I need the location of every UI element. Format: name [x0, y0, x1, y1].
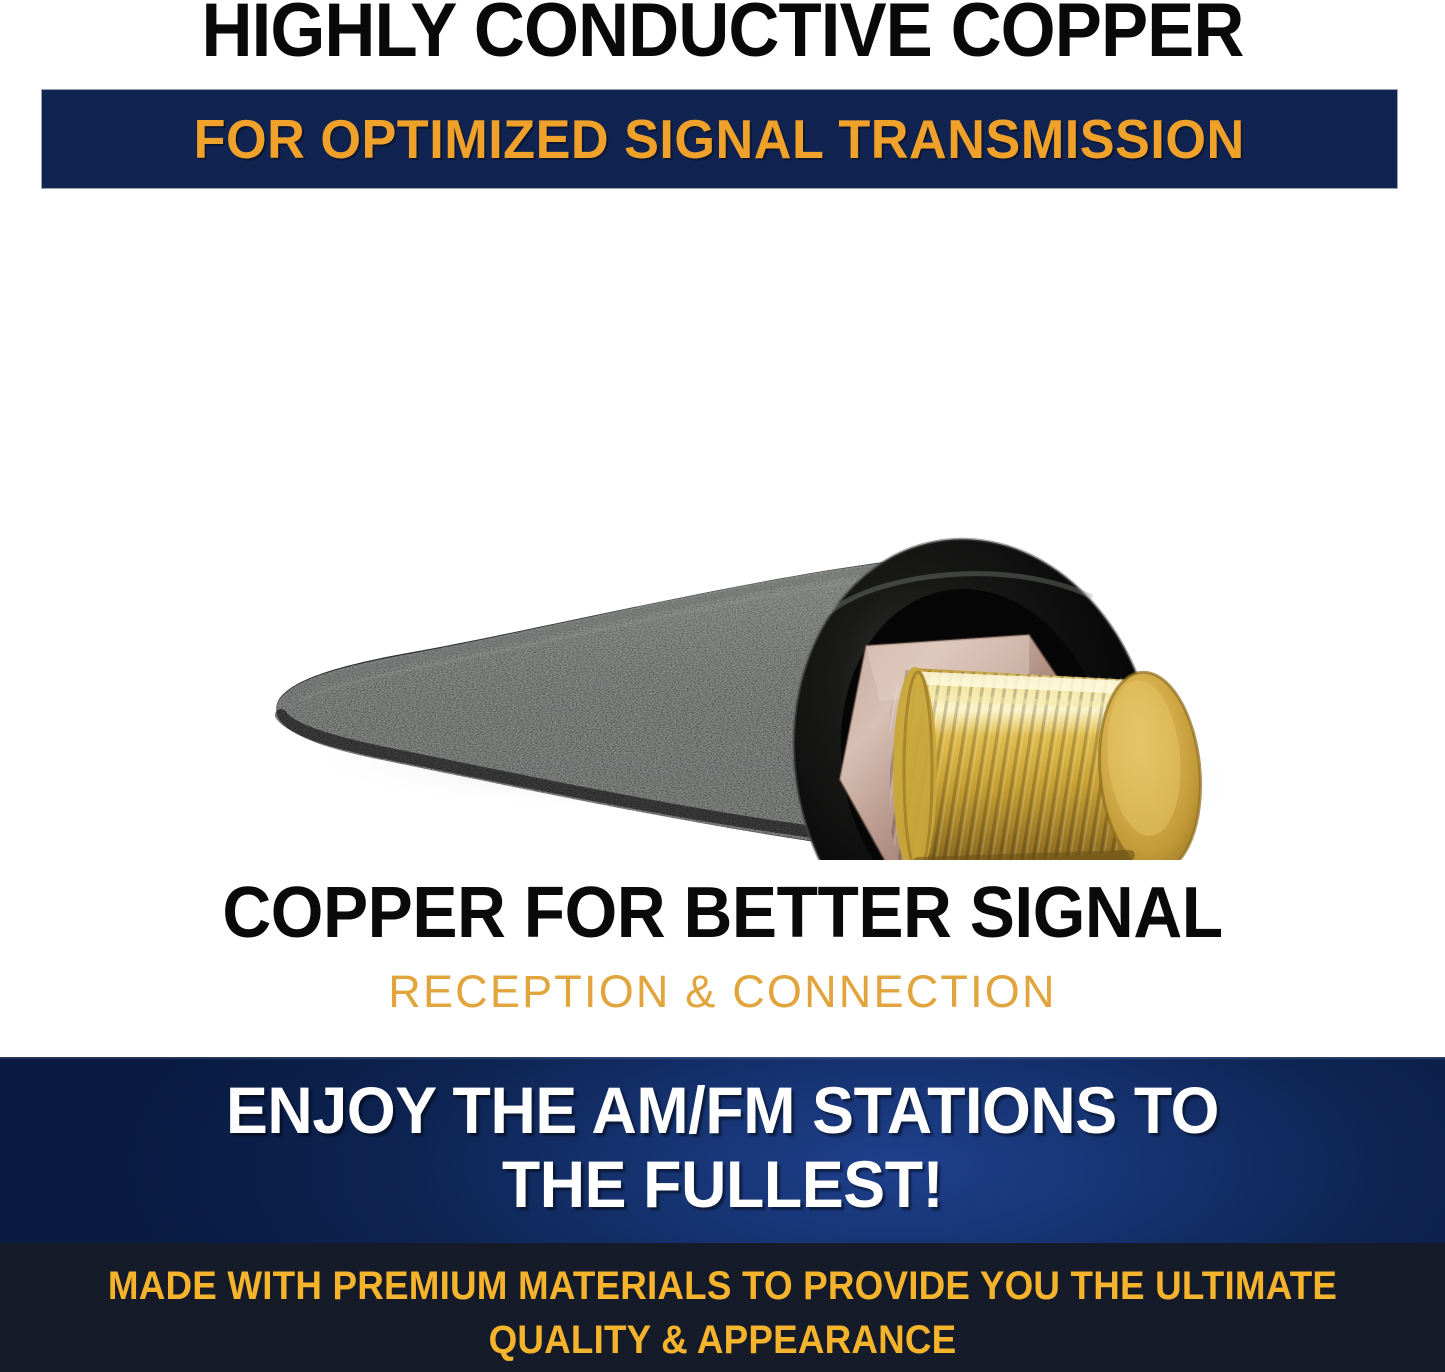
footer-line-1: MADE WITH PREMIUM MATERIALS TO PROVIDE Y…	[58, 1259, 1387, 1313]
footer-text: MADE WITH PREMIUM MATERIALS TO PROVIDE Y…	[58, 1259, 1387, 1367]
antenna-product-photo	[0, 200, 1445, 860]
cta-blue-line-2: THE FULLEST!	[36, 1147, 1409, 1221]
product-image-stage	[0, 200, 1445, 860]
subtitle-banner: FOR OPTIMIZED SIGNAL TRANSMISSION	[42, 90, 1397, 188]
cta-blue-band: ENJOY THE AM/FM STATIONS TO THE FULLEST!	[0, 1057, 1445, 1243]
subtitle-banner-label: FOR OPTIMIZED SIGNAL TRANSMISSION	[194, 110, 1245, 168]
footer-dark-strip: MADE WITH PREMIUM MATERIALS TO PROVIDE Y…	[0, 1243, 1445, 1372]
cta-blue-text: ENJOY THE AM/FM STATIONS TO THE FULLEST!	[36, 1073, 1409, 1221]
product-infographic: HIGHLY CONDUCTIVE COPPER FOR OPTIMIZED S…	[0, 0, 1445, 1372]
section-subtitle: RECEPTION & CONNECTION	[0, 966, 1445, 1018]
cta-blue-line-1: ENJOY THE AM/FM STATIONS TO	[36, 1073, 1409, 1147]
section-title: COPPER FOR BETTER SIGNAL	[43, 872, 1401, 954]
antenna-illustration	[0, 200, 1445, 860]
page-title: HIGHLY CONDUCTIVE COPPER	[51, 0, 1395, 74]
copper-threaded-stud	[890, 650, 1209, 860]
footer-line-2: QUALITY & APPEARANCE	[58, 1313, 1387, 1367]
